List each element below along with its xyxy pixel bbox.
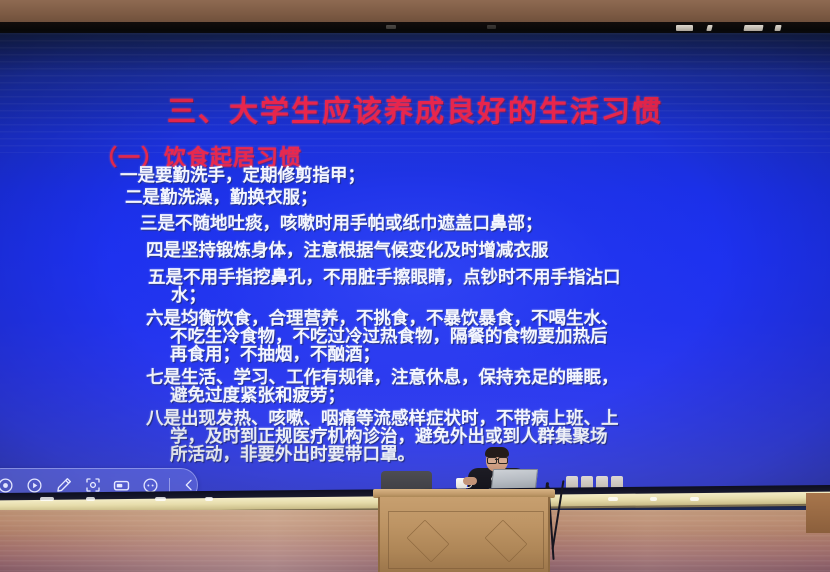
- speaker-hands: [463, 477, 477, 485]
- trim-glint: [205, 497, 213, 501]
- trim-glint: [650, 497, 657, 501]
- wooden-post: [806, 493, 830, 533]
- podium-front-panel: [378, 497, 550, 572]
- podium: [378, 489, 550, 572]
- glasses-icon: [487, 457, 507, 462]
- stage-area: [0, 0, 830, 572]
- screenshot-root: 三、大学生应该养成良好的生活习惯 （一）饮食起居习惯 一是要勤洗手，定期修剪指甲…: [0, 0, 830, 572]
- trim-glint: [86, 497, 95, 501]
- trim-glint: [40, 497, 54, 501]
- trim-glint: [155, 497, 166, 501]
- trim-glint: [690, 497, 699, 501]
- speaker-hair: [485, 447, 509, 457]
- laptop-screen: [491, 469, 538, 489]
- trim-glint: [608, 497, 618, 501]
